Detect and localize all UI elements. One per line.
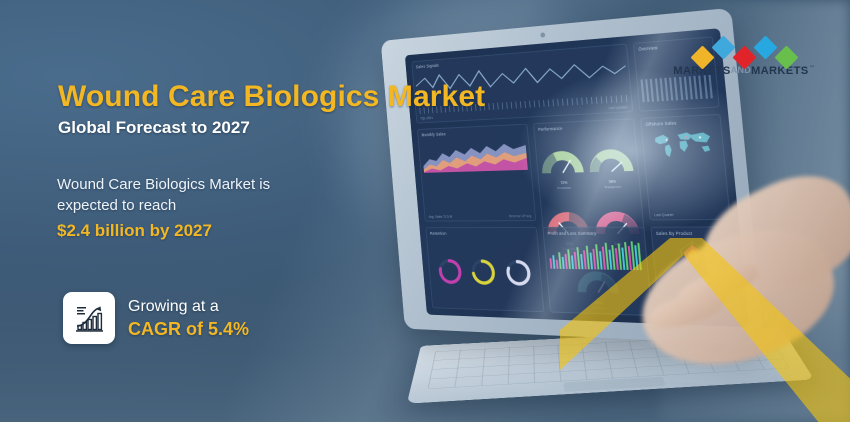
card-title: Profit and Loss Summary — [547, 231, 596, 236]
profit-loss-svg — [546, 239, 645, 270]
card-footer: TQL 2021 — [420, 116, 433, 120]
card-title: Monthly Sales — [421, 132, 445, 138]
card-title: Retention — [430, 231, 447, 236]
description-block: Wound Care Biologics Market is expected … — [57, 174, 270, 241]
card-footer: Avg. Sales 71.5 M — [429, 215, 453, 219]
logo-diamond-cyan — [753, 35, 777, 59]
world-map-card: Offshore Sales — [640, 114, 731, 221]
mini-bars — [640, 75, 714, 102]
retention-donut-card: Retention — [425, 227, 544, 312]
card-title: Offshore Sales — [645, 121, 677, 128]
webcam — [540, 32, 545, 37]
marketsandmarkets-logo[interactable]: MARKETS AND MARKETS ™ — [674, 26, 814, 77]
card-title: Overview — [638, 45, 658, 52]
gauge-label: Conversion — [557, 186, 571, 190]
gauge-label: Engagement — [605, 185, 622, 189]
growth-chart-glyph — [72, 301, 106, 335]
monthly-sales-card: Monthly Sales Avg. Sales 71.5 M Revenue … — [417, 124, 536, 222]
donut-row — [431, 239, 540, 307]
page-subtitle: Global Forecast to 2027 — [58, 118, 250, 138]
cagr-label: Growing at a — [128, 298, 219, 315]
page-title: Wound Care Biologics Market — [58, 80, 485, 114]
cagr-value: CAGR of 5.4% — [128, 319, 249, 340]
card-footer-right: Last Updated — [608, 105, 627, 110]
card-footer: Last Quarter — [654, 213, 674, 217]
donut-magenta — [435, 256, 464, 286]
card-title: Performance — [538, 126, 563, 132]
card-title: Sales By Product — [656, 231, 693, 236]
logo-diamond-lightblue — [711, 35, 735, 59]
profit-loss-card: Profit and Loss Summary — [542, 227, 652, 316]
card-footer-right: Revenue UP avg — [509, 214, 531, 218]
wound-care-biologics-banner: Sales Signals TQL 2021 Last Updated Over… — [0, 0, 850, 422]
gauge-conversion: 72% Conversion — [538, 132, 587, 190]
description-line-2: expected to reach — [57, 197, 176, 214]
world-map-svg — [644, 126, 722, 165]
gauge-value: 58% — [609, 180, 617, 184]
logo-diamonds — [674, 26, 814, 60]
logo-trademark: ™ — [809, 65, 814, 71]
growth-chart-icon — [63, 292, 115, 344]
donut-white — [503, 257, 534, 288]
cagr-block: Growing at a CAGR of 5.4% — [63, 292, 249, 344]
market-value: $2.4 billion by 2027 — [57, 220, 270, 241]
area-chart-svg — [421, 135, 528, 173]
description-line-1: Wound Care Biologics Market is — [57, 176, 270, 193]
gauge-value: 72% — [560, 181, 567, 185]
donut-yellow — [468, 257, 498, 288]
logo-word-markets-2: MARKETS — [751, 65, 808, 77]
cagr-text: Growing at a CAGR of 5.4% — [128, 296, 249, 340]
gauge-engagement: 58% Engagement — [585, 130, 636, 190]
